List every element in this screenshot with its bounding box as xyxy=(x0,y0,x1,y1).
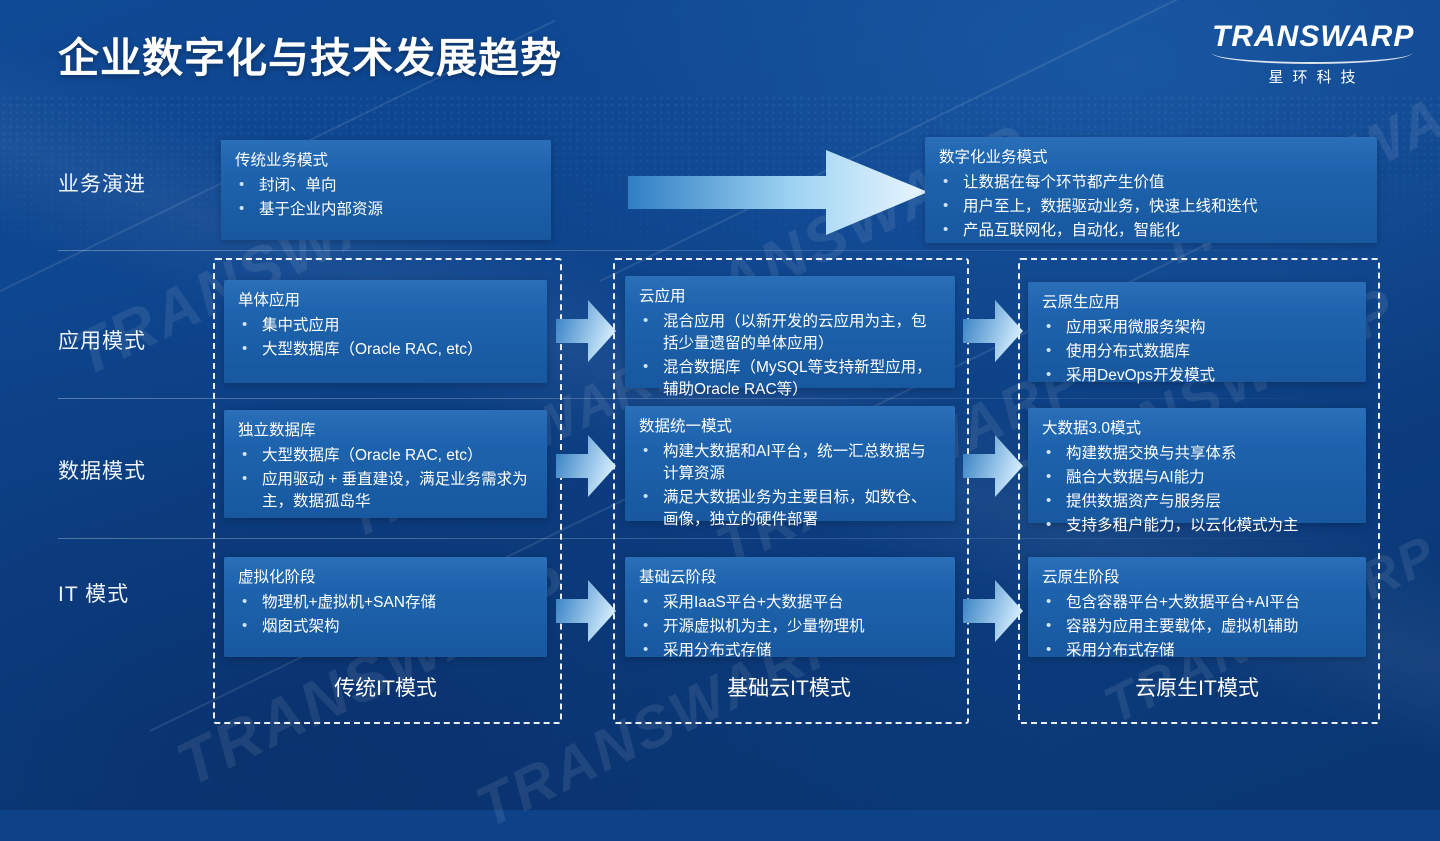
logo-arc xyxy=(1212,53,1412,64)
list-item: 大型数据库（Oracle RAC, etc） xyxy=(238,339,533,361)
card-business-digital[interactable]: 数字化业务模式 让数据在每个环节都产生价值 用户至上，数据驱动业务，快速上线和迭… xyxy=(925,137,1377,243)
card-app-cloud[interactable]: 云应用 混合应用（以新开发的云应用为主，包括少量遗留的单体应用） 混合数据库（M… xyxy=(625,276,955,388)
list-item: 烟囱式架构 xyxy=(238,616,533,638)
list-item: 基于企业内部资源 xyxy=(235,199,537,221)
list-item: 让数据在每个环节都产生价值 xyxy=(939,172,1363,194)
card-heading: 大数据3.0模式 xyxy=(1042,419,1352,440)
list-item: 集中式应用 xyxy=(238,315,533,337)
list-item: 混合应用（以新开发的云应用为主，包括少量遗留的单体应用） xyxy=(639,311,941,355)
card-bullet-list: 让数据在每个环节都产生价值 用户至上，数据驱动业务，快速上线和迭代 产品互联网化… xyxy=(939,172,1363,242)
list-item: 混合数据库（MySQL等支持新型应用，辅助Oracle RAC等） xyxy=(639,357,941,401)
list-item: 开源虚拟机为主，少量物理机 xyxy=(639,616,941,638)
card-bullet-list: 集中式应用 大型数据库（Oracle RAC, etc） xyxy=(238,315,533,361)
list-item: 封闭、单向 xyxy=(235,175,537,197)
list-item: 物理机+虚拟机+SAN存储 xyxy=(238,592,533,614)
card-bullet-list: 包含容器平台+大数据平台+AI平台 容器为应用主要载体，虚拟机辅助 采用分布式存… xyxy=(1042,592,1352,662)
list-item: 构建大数据和AI平台，统一汇总数据与计算资源 xyxy=(639,441,941,485)
card-heading: 传统业务模式 xyxy=(235,151,537,172)
card-bullet-list: 封闭、单向 基于企业内部资源 xyxy=(235,175,537,221)
right-arrow-icon-it-2 xyxy=(963,580,1023,642)
list-item: 使用分布式数据库 xyxy=(1042,341,1352,363)
card-data-unified[interactable]: 数据统一模式 构建大数据和AI平台，统一汇总数据与计算资源 满足大数据业务为主要… xyxy=(625,406,955,521)
list-item: 提供数据资产与服务层 xyxy=(1042,491,1352,513)
card-it-virtualization[interactable]: 虚拟化阶段 物理机+虚拟机+SAN存储 烟囱式架构 xyxy=(224,557,547,657)
right-arrow-icon-data-2 xyxy=(963,435,1023,497)
list-item: 包含容器平台+大数据平台+AI平台 xyxy=(1042,592,1352,614)
big-right-arrow-icon xyxy=(628,150,928,235)
card-heading: 云原生应用 xyxy=(1042,293,1352,314)
right-arrow-icon-app-1 xyxy=(556,300,616,362)
footer-label-traditional: 传统IT模式 xyxy=(213,672,558,702)
list-item: 采用IaaS平台+大数据平台 xyxy=(639,592,941,614)
card-data-bigdata30[interactable]: 大数据3.0模式 构建数据交换与共享体系 融合大数据与AI能力 提供数据资产与服… xyxy=(1028,408,1366,523)
list-item: 满足大数据业务为主要目标，如数仓、画像，独立的硬件部署 xyxy=(639,487,941,531)
list-item: 采用DevOps开发模式 xyxy=(1042,365,1352,387)
card-bullet-list: 物理机+虚拟机+SAN存储 烟囱式架构 xyxy=(238,592,533,638)
row-label-business: 业务演进 xyxy=(58,168,146,198)
right-arrow-icon-app-2 xyxy=(963,300,1023,362)
list-item: 用户至上，数据驱动业务，快速上线和迭代 xyxy=(939,196,1363,218)
list-item: 采用分布式存储 xyxy=(1042,640,1352,662)
transwarp-logo: TRANSWARP 星环科技 xyxy=(1212,20,1412,87)
row-label-application: 应用模式 xyxy=(58,325,146,355)
card-data-independent[interactable]: 独立数据库 大型数据库（Oracle RAC, etc） 应用驱动 + 垂直建设… xyxy=(224,410,547,518)
page-title: 企业数字化与技术发展趋势 xyxy=(58,24,562,84)
list-item: 应用采用微服务架构 xyxy=(1042,317,1352,339)
card-bullet-list: 构建数据交换与共享体系 融合大数据与AI能力 提供数据资产与服务层 支持多租户能… xyxy=(1042,443,1352,537)
card-bullet-list: 采用IaaS平台+大数据平台 开源虚拟机为主，少量物理机 采用分布式存储 xyxy=(639,592,941,662)
list-item: 融合大数据与AI能力 xyxy=(1042,467,1352,489)
footer-label-basic-cloud: 基础云IT模式 xyxy=(613,672,965,702)
card-app-cloud-native[interactable]: 云原生应用 应用采用微服务架构 使用分布式数据库 采用DevOps开发模式 xyxy=(1028,282,1366,382)
list-item: 支持多租户能力，以云化模式为主 xyxy=(1042,515,1352,537)
right-arrow-icon-data-1 xyxy=(556,435,616,497)
list-item: 容器为应用主要载体，虚拟机辅助 xyxy=(1042,616,1352,638)
card-bullet-list: 应用采用微服务架构 使用分布式数据库 采用DevOps开发模式 xyxy=(1042,317,1352,387)
card-heading: 云原生阶段 xyxy=(1042,568,1352,589)
footer-label-cloud-native: 云原生IT模式 xyxy=(1018,672,1376,702)
list-item: 大型数据库（Oracle RAC, etc） xyxy=(238,445,533,467)
card-heading: 虚拟化阶段 xyxy=(238,568,533,589)
card-heading: 独立数据库 xyxy=(238,421,533,442)
card-it-basic-cloud[interactable]: 基础云阶段 采用IaaS平台+大数据平台 开源虚拟机为主，少量物理机 采用分布式… xyxy=(625,557,955,657)
list-item: 产品互联网化，自动化，智能化 xyxy=(939,220,1363,242)
row-label-it: IT 模式 xyxy=(58,578,129,608)
list-item: 构建数据交换与共享体系 xyxy=(1042,443,1352,465)
card-bullet-list: 混合应用（以新开发的云应用为主，包括少量遗留的单体应用） 混合数据库（MySQL… xyxy=(639,311,941,401)
card-heading: 数字化业务模式 xyxy=(939,148,1363,169)
logo-chinese-name: 星环科技 xyxy=(1212,66,1412,87)
right-arrow-icon-it-1 xyxy=(556,580,616,642)
card-heading: 云应用 xyxy=(639,287,941,308)
row-label-data: 数据模式 xyxy=(58,455,146,485)
card-business-legacy[interactable]: 传统业务模式 封闭、单向 基于企业内部资源 xyxy=(221,140,551,240)
card-it-cloud-native[interactable]: 云原生阶段 包含容器平台+大数据平台+AI平台 容器为应用主要载体，虚拟机辅助 … xyxy=(1028,557,1366,657)
list-item: 采用分布式存储 xyxy=(639,640,941,662)
card-heading: 数据统一模式 xyxy=(639,417,941,438)
row-divider xyxy=(58,250,1378,251)
list-item: 应用驱动 + 垂直建设，满足业务需求为主，数据孤岛华 xyxy=(238,469,533,513)
card-bullet-list: 大型数据库（Oracle RAC, etc） 应用驱动 + 垂直建设，满足业务需… xyxy=(238,445,533,513)
card-app-monolith[interactable]: 单体应用 集中式应用 大型数据库（Oracle RAC, etc） xyxy=(224,280,547,383)
logo-wordmark: TRANSWARP xyxy=(1212,20,1412,54)
card-heading: 基础云阶段 xyxy=(639,568,941,589)
card-bullet-list: 构建大数据和AI平台，统一汇总数据与计算资源 满足大数据业务为主要目标，如数仓、… xyxy=(639,441,941,531)
card-heading: 单体应用 xyxy=(238,291,533,312)
